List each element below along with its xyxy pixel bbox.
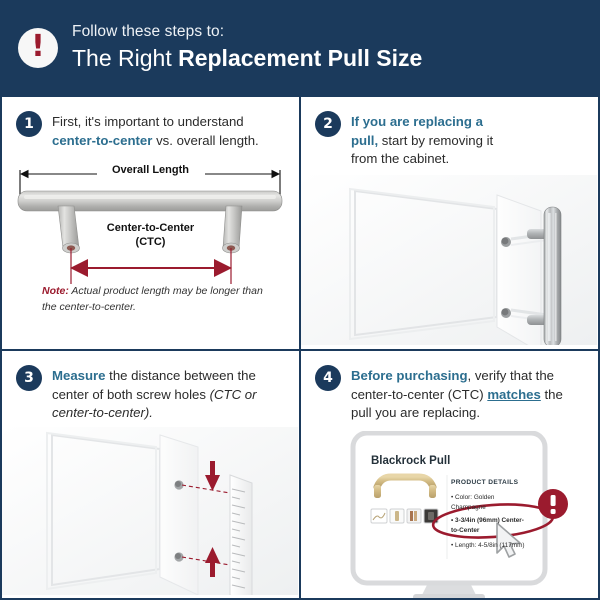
product-detail-ctc: • 3-3/4in (96mm) Center-to-Center	[451, 516, 529, 535]
page-title-bold: Replacement Pull Size	[178, 45, 422, 71]
overall-length-label: Overall Length	[97, 164, 205, 176]
page-title: The Right Replacement Pull Size	[72, 45, 422, 72]
step-4-accent: Before purchasing	[351, 368, 468, 383]
step-number-badge-3: 3	[16, 365, 42, 391]
product-detail-length: • Length: 4-5/8in (117mm)	[451, 541, 529, 551]
step-3-header: 3 Measure the distance between the cente…	[2, 351, 299, 423]
header-eyebrow: Follow these steps to:	[72, 23, 422, 41]
infographic-root: ! Follow these steps to: The Right Repla…	[0, 0, 600, 600]
matches-link[interactable]: matches	[487, 387, 541, 402]
step-1-accent: center-to-center	[52, 133, 152, 148]
step-2-header: 2 If you are replacing a pull, start by …	[301, 97, 598, 169]
step-1-text-after: vs. overall length.	[152, 133, 258, 148]
steps-grid: 1 First, it's important to understand ce…	[0, 95, 600, 600]
page-title-light: The Right	[72, 45, 178, 71]
step-2-text: If you are replacing a pull, start by re…	[351, 111, 513, 169]
step-panel-1: 1 First, it's important to understand ce…	[0, 95, 300, 350]
exclamation-circle-icon-small	[538, 489, 568, 519]
product-detail-length-value: Length: 4-5/8in (117mm)	[455, 542, 525, 549]
center-to-center-label: Center-to-Center	[2, 222, 299, 234]
product-details-heading: PRODUCT DETAILS	[451, 479, 518, 486]
step-4-text: Before purchasing, verify that the cente…	[351, 365, 583, 423]
step-number-badge-1: 1	[16, 111, 42, 137]
product-page-monitor: Blackrock Pull PRODUCT DETAILS • Color: …	[301, 431, 600, 599]
step-3-accent: Measure	[52, 368, 106, 383]
product-thumbnails	[371, 509, 438, 523]
exclamation-circle-icon: !	[18, 28, 58, 68]
step-4-header: 4 Before purchasing, verify that the cen…	[301, 351, 598, 423]
product-detail-color: • Color: Golden Champagne	[451, 493, 529, 512]
step-1-header: 1 First, it's important to understand ce…	[2, 97, 299, 150]
step-number-badge-4: 4	[315, 365, 341, 391]
step-3-text: Measure the distance between the center …	[52, 365, 267, 423]
product-title: Blackrock Pull	[371, 455, 450, 467]
step-1-text: First, it's important to understand cent…	[52, 111, 285, 150]
note-text: Actual product length may be longer than…	[42, 285, 263, 313]
screw-hole-measurement-illustration	[2, 427, 298, 595]
header-banner: ! Follow these steps to: The Right Repla…	[0, 0, 600, 95]
step-panel-2: 2 If you are replacing a pull, start by …	[300, 95, 600, 350]
product-detail-color-value: Color: Golden Champagne	[451, 494, 494, 511]
step-1-text-before: First, it's important to understand	[52, 114, 244, 129]
note-label: Note:	[42, 285, 69, 297]
step-1-note: Note: Actual product length may be longe…	[42, 283, 267, 316]
ctc-abbrev-label: (CTC)	[129, 236, 173, 248]
cabinet-door-pull-illustration	[301, 175, 597, 345]
product-detail-ctc-value: 3-3/4in (96mm) Center-to-Center	[451, 517, 524, 534]
step-number-badge-2: 2	[315, 111, 341, 137]
exclamation-glyph: !	[31, 32, 45, 62]
step-panel-3: 3 Measure the distance between the cente…	[0, 350, 300, 600]
header-text-group: Follow these steps to: The Right Replace…	[72, 23, 422, 72]
step-panel-4: 4 Before purchasing, verify that the cen…	[300, 350, 600, 600]
